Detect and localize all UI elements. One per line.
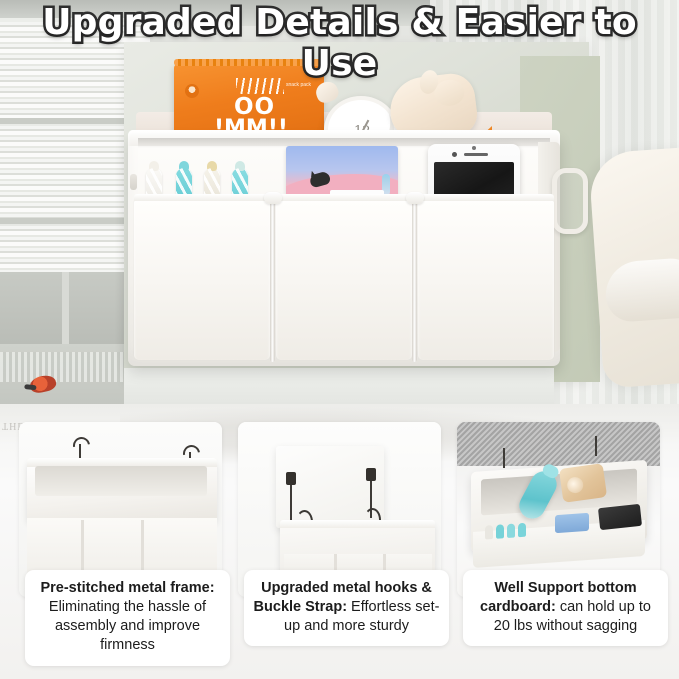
pillow — [588, 146, 679, 388]
hero-photo: snack pack OO !MM!! 11 12 1 — [0, 0, 679, 412]
feature-card: Pre-stitched metal frame: Eliminating th… — [19, 422, 222, 662]
pocket-seam — [270, 194, 275, 362]
gold-accessory — [559, 463, 607, 503]
page-title: Upgraded Details & Easier to Use — [0, 2, 679, 84]
metal-hook-icon — [503, 448, 505, 468]
bag-logo-icon — [185, 84, 199, 98]
pocket-tab — [264, 192, 282, 204]
caddy-pocket-center — [276, 200, 412, 360]
feature-caption: Upgraded metal hooks & Buckle Strap: Eff… — [244, 570, 449, 646]
phone-speaker-icon — [464, 153, 488, 156]
blue-item — [555, 513, 589, 533]
buckle-clip — [366, 468, 376, 481]
caddy-rim — [280, 520, 435, 528]
caddy-interior — [35, 466, 207, 496]
feature-caption: Pre-stitched metal frame: Eliminating th… — [25, 570, 230, 666]
feature-lead: Pre-stitched metal frame: — [40, 580, 214, 596]
bedside-caddy: snack pack OO !MM!! 11 12 1 — [128, 108, 560, 366]
buckle-clip — [286, 472, 296, 485]
feature-caption: Well Support bottom cardboard: can hold … — [463, 570, 668, 646]
smartphone — [598, 504, 642, 530]
shelf-divider — [62, 272, 69, 348]
pocket-seam — [412, 194, 417, 362]
side-clip — [130, 174, 137, 190]
feature-card: Upgraded metal hooks & Buckle Strap: Eff… — [238, 422, 441, 662]
side-handle — [552, 168, 588, 234]
metal-hook-icon — [595, 436, 597, 456]
feature-section: THE VERY HUNGRY Pre-stitched metal frame… — [0, 404, 679, 679]
phone-sensor-icon — [472, 146, 476, 150]
product-infographic: snack pack OO !MM!! 11 12 1 — [0, 0, 679, 679]
buckle-strap — [290, 480, 292, 522]
textured-mat — [457, 422, 660, 466]
caddy-pocket-right — [418, 200, 554, 360]
feature-card: Well Support bottom cardboard: can hold … — [457, 422, 660, 662]
caddy-pocket-left — [134, 200, 270, 360]
feature-body: Eliminating the hassle of assembly and i… — [49, 599, 206, 653]
pocket-tab — [406, 192, 424, 204]
phone-camera-icon — [452, 152, 457, 157]
